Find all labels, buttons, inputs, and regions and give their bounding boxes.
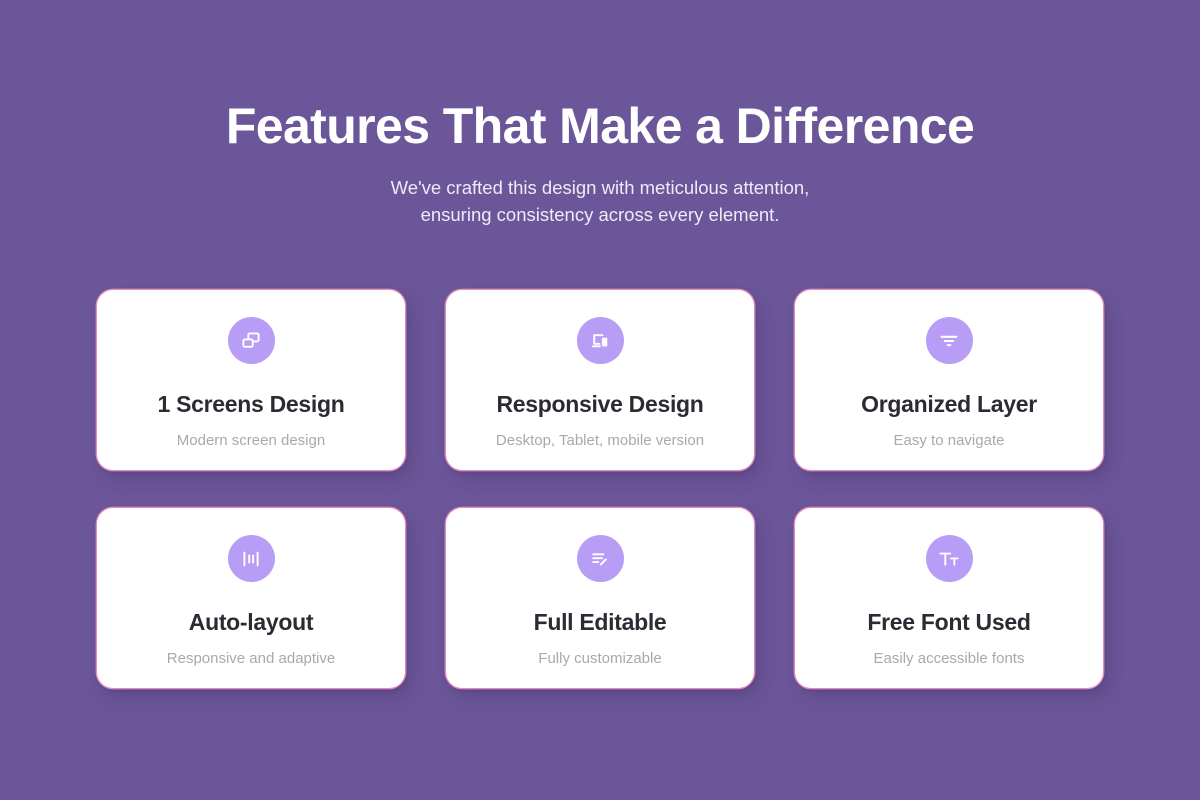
icon-bubble bbox=[228, 317, 275, 364]
icon-bubble bbox=[577, 535, 624, 582]
page-title: Features That Make a Difference bbox=[0, 96, 1200, 156]
icon-bubble bbox=[228, 535, 275, 582]
page-subtitle-line-1: We've crafted this design with meticulou… bbox=[0, 175, 1200, 202]
feature-card-title: Auto-layout bbox=[189, 609, 313, 636]
text-size-icon bbox=[937, 547, 961, 571]
feature-card-full-editable[interactable]: Full Editable Fully customizable bbox=[446, 508, 754, 688]
overlapping-windows-icon bbox=[239, 329, 263, 353]
feature-card-title: Free Font Used bbox=[867, 609, 1030, 636]
section-header: Features That Make a Difference We've cr… bbox=[0, 96, 1200, 228]
feature-card-auto-layout[interactable]: Auto-layout Responsive and adaptive bbox=[97, 508, 405, 688]
feature-card-description: Easily accessible fonts bbox=[874, 649, 1025, 668]
page-subtitle: We've crafted this design with meticulou… bbox=[0, 175, 1200, 228]
features-section: Features That Make a Difference We've cr… bbox=[0, 0, 1200, 800]
feature-card-title: Responsive Design bbox=[496, 391, 703, 418]
feature-card-description: Easy to navigate bbox=[894, 431, 1005, 450]
icon-bubble bbox=[926, 317, 973, 364]
feature-card-description: Modern screen design bbox=[177, 431, 325, 450]
page-subtitle-line-2: ensuring consistency across every elemen… bbox=[0, 202, 1200, 229]
feature-card-description: Desktop, Tablet, mobile version bbox=[496, 431, 704, 450]
feature-card-title: Organized Layer bbox=[861, 391, 1037, 418]
feature-card-responsive-design[interactable]: Responsive Design Desktop, Tablet, mobil… bbox=[446, 290, 754, 470]
filter-lines-icon bbox=[937, 329, 961, 353]
icon-bubble bbox=[577, 317, 624, 364]
feature-card-title: 1 Screens Design bbox=[158, 391, 345, 418]
distribute-spacing-icon bbox=[239, 547, 263, 571]
feature-card-screens-design[interactable]: 1 Screens Design Modern screen design bbox=[97, 290, 405, 470]
icon-bubble bbox=[926, 535, 973, 582]
edit-pencil-lines-icon bbox=[588, 547, 612, 571]
feature-card-title: Full Editable bbox=[534, 609, 667, 636]
desktop-mobile-icon bbox=[588, 329, 612, 353]
feature-card-description: Responsive and adaptive bbox=[167, 649, 335, 668]
feature-card-free-font-used[interactable]: Free Font Used Easily accessible fonts bbox=[795, 508, 1103, 688]
feature-card-organized-layer[interactable]: Organized Layer Easy to navigate bbox=[795, 290, 1103, 470]
feature-card-grid: 1 Screens Design Modern screen design Re… bbox=[97, 290, 1105, 688]
feature-card-description: Fully customizable bbox=[538, 649, 661, 668]
